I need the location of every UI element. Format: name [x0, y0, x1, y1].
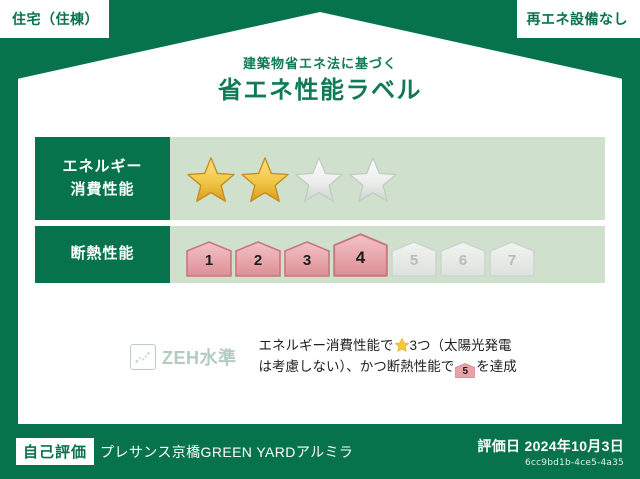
insulation-performance-label-cell: 断熱性能 [35, 226, 170, 283]
insulation-level-badge-3: 3 [284, 241, 330, 277]
insulation-level-badge-6: 6 [440, 241, 486, 277]
star-empty-icon [294, 155, 344, 203]
badge-number: 4 [356, 249, 365, 277]
building-name: プレサンス京橋GREEN YARDアルミラ [100, 442, 353, 462]
insulation-level-badge-1: 1 [186, 241, 232, 277]
title-block: 建築物省エネ法に基づく 省エネ性能ラベル [0, 56, 640, 107]
energy-performance-label-cell: エネルギー 消費性能 [35, 137, 170, 220]
insulation-level-badge-2: 2 [235, 241, 281, 277]
zeh-note: ZEH水準 エネルギー消費性能で3つ（太陽光発電 は考慮しない）、かつ断熱性能で… [130, 336, 517, 378]
footer: 自己評価 プレサンス京橋GREEN YARDアルミラ 評価日 2024年10月3… [0, 424, 640, 479]
inline-level-badge: 5 [455, 363, 475, 378]
building-type-tag: 住宅（住棟） [0, 0, 109, 38]
badge-number: 7 [508, 253, 516, 277]
evaluation-date: 評価日 2024年10月3日 [477, 436, 624, 456]
title-subtitle: 建築物省エネ法に基づく [0, 56, 640, 72]
energy-label-line2: 消費性能 [70, 179, 134, 202]
inline-star-icon [394, 337, 410, 353]
badge-number: 5 [410, 253, 418, 277]
star-empty-icon [348, 155, 398, 203]
energy-performance-value-cell [170, 137, 605, 220]
insulation-performance-row: 断熱性能 1234567 [35, 226, 605, 283]
insulation-level-badges: 1234567 [186, 233, 535, 277]
inline-badge-number: 5 [455, 363, 475, 381]
energy-label-line1: エネルギー [62, 156, 142, 179]
zeh-description-line1: エネルギー消費性能で3つ（太陽光発電 [259, 336, 517, 357]
footer-right: 評価日 2024年10月3日 6cc9bd1b-4ce5-4a35 [477, 436, 624, 468]
zeh-desc-l2-pre: は考慮しない）、かつ断熱性能で [259, 359, 455, 374]
self-evaluation-tag: 自己評価 [16, 438, 94, 465]
insulation-level-badge-4: 4 [333, 233, 388, 277]
zeh-desc-l1-pre: エネルギー消費性能で [259, 338, 394, 353]
badge-number: 2 [254, 253, 262, 277]
energy-performance-row: エネルギー 消費性能 [35, 137, 605, 220]
page-title: 省エネ性能ラベル [0, 75, 640, 107]
footer-left: 自己評価 プレサンス京橋GREEN YARDアルミラ [16, 438, 477, 465]
insulation-level-badge-7: 7 [489, 241, 535, 277]
insulation-label: 断熱性能 [70, 243, 134, 266]
star-filled-icon [186, 155, 236, 203]
star-rating [186, 155, 398, 203]
badge-number: 6 [459, 253, 467, 277]
star-filled-icon [240, 155, 290, 203]
zeh-description-line2: は考慮しない）、かつ断熱性能で5を達成 [259, 357, 517, 378]
badge-number: 3 [303, 253, 311, 277]
insulation-performance-value-cell: 1234567 [170, 226, 605, 283]
zeh-mark: ZEH水準 [130, 344, 237, 370]
energy-performance-label: 住宅（住棟） 再エネ設備なし 建築物省エネ法に基づく 省エネ性能ラベル エネルギ… [0, 0, 640, 479]
badge-number: 1 [205, 253, 213, 277]
zeh-desc-l1-post: 3つ（太陽光発電 [410, 338, 512, 353]
zeh-desc-l2-post: を達成 [476, 359, 517, 374]
ratings-container: エネルギー 消費性能 断熱性能 1234567 [35, 137, 605, 283]
zeh-description: エネルギー消費性能で3つ（太陽光発電 は考慮しない）、かつ断熱性能で5を達成 [259, 336, 517, 378]
renewable-energy-tag: 再エネ設備なし [517, 0, 640, 38]
zeh-chart-icon [130, 344, 156, 370]
evaluation-id: 6cc9bd1b-4ce5-4a35 [477, 458, 624, 468]
insulation-level-badge-5: 5 [391, 241, 437, 277]
zeh-label: ZEH水準 [162, 344, 237, 370]
